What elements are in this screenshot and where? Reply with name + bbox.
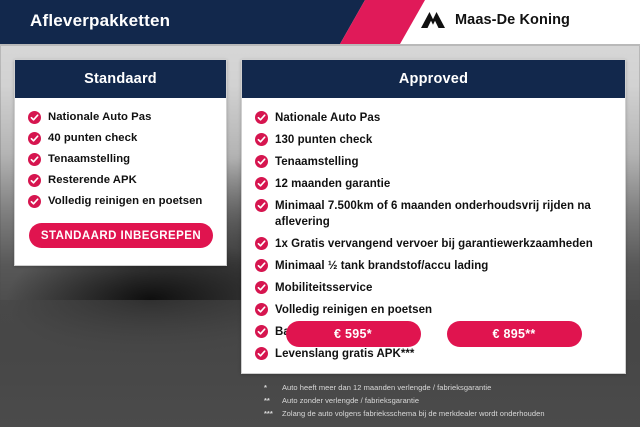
brand-name: Maas-De Koning — [455, 12, 570, 28]
maas-de-koning-m-logo-icon — [420, 11, 446, 29]
feature-label: Minimaal 7.500km of 6 maanden onderhouds… — [275, 198, 615, 230]
check-circle-icon — [255, 111, 268, 124]
footnote-text: Auto zonder verlengde / fabrieksgarantie — [282, 395, 419, 406]
check-circle-icon — [255, 155, 268, 168]
check-circle-icon — [255, 199, 268, 212]
feature-label: 130 punten check — [275, 132, 372, 148]
footnote-row: *** Zolang de auto volgens fabrieksschem… — [264, 408, 624, 419]
feature-label: Levenslang gratis APK*** — [275, 346, 414, 362]
footnote-text: Zolang de auto volgens fabrieksschema bi… — [282, 408, 545, 419]
footnote-text: Auto heeft meer dan 12 maanden verlengde… — [282, 382, 491, 393]
card-title-approved: Approved — [399, 71, 468, 87]
feature-label: Volledig reinigen en poetsen — [48, 194, 202, 208]
feature-label: Volledig reinigen en poetsen — [275, 302, 432, 318]
page-title: Afleverpakketten — [30, 11, 170, 31]
list-item: Mobiliteitsservice — [255, 280, 615, 296]
list-item: Tenaamstelling — [28, 152, 216, 166]
list-item: Volledig reinigen en poetsen — [255, 302, 615, 318]
check-circle-icon — [28, 153, 41, 166]
feature-label: Tenaamstelling — [48, 152, 130, 166]
check-circle-icon — [255, 237, 268, 250]
footnotes: * Auto heeft meer dan 12 maanden verleng… — [264, 382, 624, 421]
check-circle-icon — [255, 303, 268, 316]
check-circle-icon — [28, 132, 41, 145]
check-circle-icon — [28, 111, 41, 124]
brand-logo: Maas-De Koning — [420, 11, 570, 29]
footnote-marker: * — [264, 382, 282, 393]
list-item: 130 punten check — [255, 132, 615, 148]
check-circle-icon — [255, 133, 268, 146]
list-item: Nationale Auto Pas — [255, 110, 615, 126]
check-circle-icon — [255, 347, 268, 360]
card-header-approved: Approved — [242, 60, 625, 98]
feature-label: Resterende APK — [48, 173, 137, 187]
list-item: Minimaal ½ tank brandstof/accu lading — [255, 258, 615, 274]
feature-label: Mobiliteitsservice — [275, 280, 372, 296]
package-card-approved: Approved Nationale Auto Pas 130 punten c… — [241, 59, 626, 374]
header-divider — [0, 44, 640, 46]
list-item: Volledig reinigen en poetsen — [28, 194, 216, 208]
page-header: Afleverpakketten Maas-De Koning — [0, 0, 640, 44]
card-title-standaard: Standaard — [84, 71, 157, 87]
check-circle-icon — [28, 174, 41, 187]
list-item: 12 maanden garantie — [255, 176, 615, 192]
feature-label: 12 maanden garantie — [275, 176, 390, 192]
check-circle-icon — [255, 177, 268, 190]
feature-label: 40 punten check — [48, 131, 137, 145]
list-item: Nationale Auto Pas — [28, 110, 216, 124]
list-item: 40 punten check — [28, 131, 216, 145]
check-circle-icon — [28, 195, 41, 208]
delivery-packages-page: Afleverpakketten Maas-De Koning Standaar… — [0, 0, 640, 427]
list-item: Resterende APK — [28, 173, 216, 187]
feature-label: Nationale Auto Pas — [275, 110, 380, 126]
list-item: Minimaal 7.500km of 6 maanden onderhouds… — [255, 198, 615, 230]
check-circle-icon — [255, 259, 268, 272]
feature-label: Tenaamstelling — [275, 154, 359, 170]
price-button-595[interactable]: € 595* — [286, 321, 421, 347]
list-item: 1x Gratis vervangend vervoer bij garanti… — [255, 236, 615, 252]
price-button-row: € 595* € 895** — [242, 321, 625, 347]
footnote-row: ** Auto zonder verlengde / fabrieksgaran… — [264, 395, 624, 406]
card-header-standaard: Standaard — [15, 60, 226, 98]
package-card-standaard: Standaard Nationale Auto Pas 40 punten c… — [14, 59, 227, 266]
price-button-895[interactable]: € 895** — [447, 321, 582, 347]
feature-label: Minimaal ½ tank brandstof/accu lading — [275, 258, 488, 274]
feature-list-standaard: Nationale Auto Pas 40 punten check Tenaa… — [15, 98, 226, 208]
footnote-row: * Auto heeft meer dan 12 maanden verleng… — [264, 382, 624, 393]
footnote-marker: ** — [264, 395, 282, 406]
standaard-inbegrepen-button[interactable]: STANDAARD INBEGREPEN — [29, 223, 213, 248]
check-circle-icon — [255, 281, 268, 294]
list-item: Tenaamstelling — [255, 154, 615, 170]
feature-label: 1x Gratis vervangend vervoer bij garanti… — [275, 236, 593, 252]
footnote-marker: *** — [264, 408, 282, 419]
list-item: Levenslang gratis APK*** — [255, 346, 615, 362]
feature-label: Nationale Auto Pas — [48, 110, 151, 124]
